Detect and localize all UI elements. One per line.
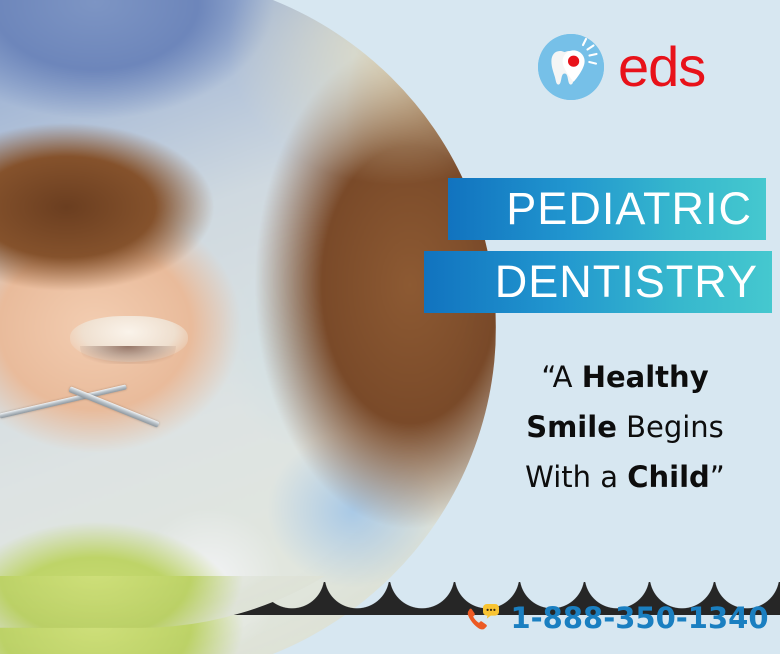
hero-photo-oval-mask bbox=[0, 0, 496, 654]
tagline-line-1: “A Healthy bbox=[470, 352, 780, 402]
hero-photo-oval-mask-bottom bbox=[0, 576, 430, 628]
photo-vignette-bottom bbox=[0, 576, 430, 628]
phone-chat-icon bbox=[466, 603, 500, 633]
tagline-child: Child bbox=[627, 460, 710, 494]
eds-wordmark: eds bbox=[618, 39, 705, 95]
headline-line-dentistry: DENTISTRY bbox=[424, 251, 772, 313]
headline: PEDIATRIC DENTISTRY bbox=[0, 178, 780, 313]
tagline-a: A bbox=[553, 360, 582, 394]
tagline-smile: Smile bbox=[526, 410, 617, 444]
eds-logo[interactable]: eds bbox=[538, 34, 705, 100]
photo-vignette bbox=[0, 0, 496, 654]
phone-cta[interactable]: 1-888-350-1340 bbox=[455, 582, 780, 654]
hero-photo-bottom-overlap bbox=[0, 576, 430, 654]
tooth-pin-icon bbox=[538, 34, 604, 100]
tagline-with-a: With a bbox=[525, 460, 627, 494]
tagline-healthy: Healthy bbox=[582, 360, 709, 394]
tagline-begins: Begins bbox=[617, 410, 724, 444]
hero-photo bbox=[0, 0, 500, 654]
headline-line-pediatric: PEDIATRIC bbox=[448, 178, 766, 240]
tagline-line-2: Smile Begins bbox=[470, 402, 780, 452]
tagline-line-3: With a Child” bbox=[470, 452, 780, 502]
open-quote: “ bbox=[541, 360, 552, 394]
phone-number[interactable]: 1-888-350-1340 bbox=[510, 601, 768, 635]
close-quote: ” bbox=[710, 460, 725, 494]
tagline: “A Healthy Smile Begins With a Child” bbox=[470, 352, 780, 502]
pediatric-dentistry-banner: eds PEDIATRIC DENTISTRY “A Healthy Smile… bbox=[0, 0, 780, 654]
